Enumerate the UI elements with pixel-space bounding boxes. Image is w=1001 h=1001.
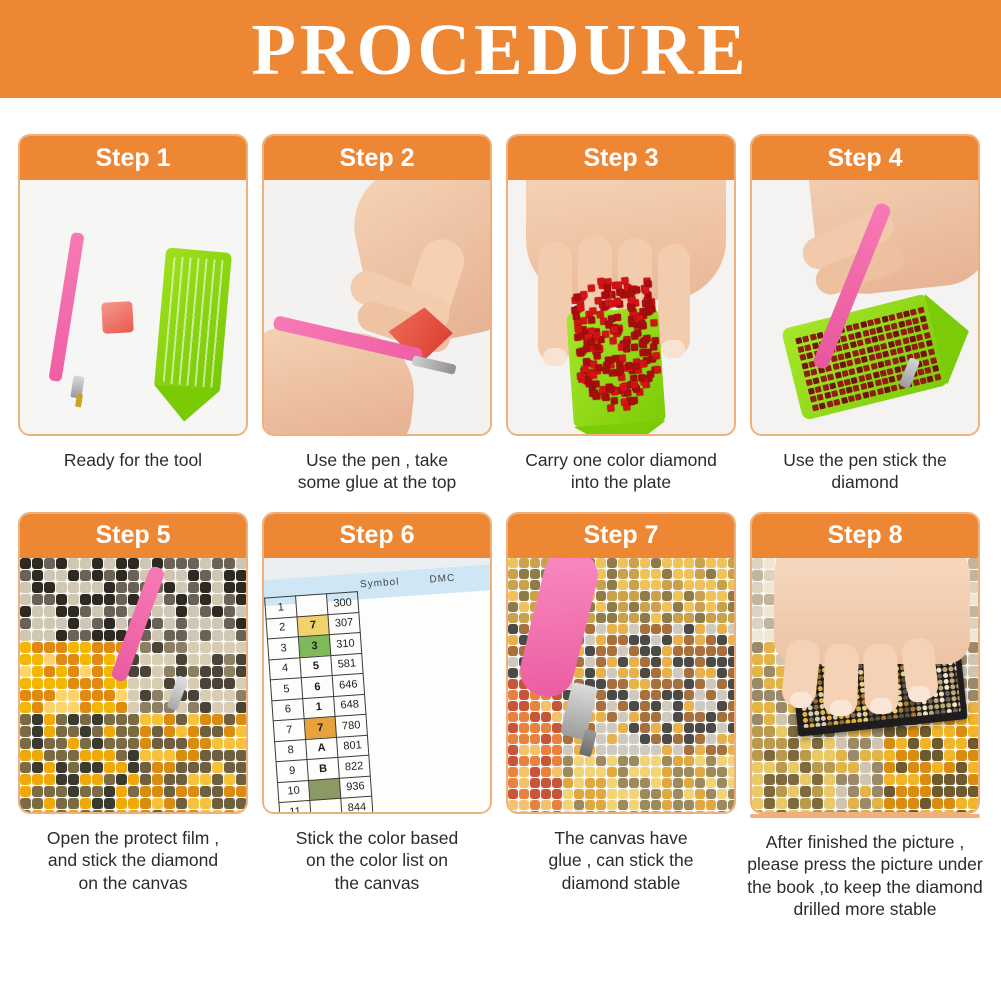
diamond-bead: [176, 630, 187, 641]
diamond-bead: [869, 328, 876, 335]
diamond-bead: [851, 376, 858, 383]
diamond-bead: [861, 356, 868, 363]
diamond-bead: [224, 702, 235, 713]
diamond-bead: [596, 657, 606, 667]
diamond-bead: [706, 624, 716, 634]
diamond-bead: [887, 367, 894, 374]
diamond-bead: [188, 786, 199, 797]
diamond-bead: [563, 756, 573, 766]
pen-nib-icon: [75, 394, 83, 408]
diamond-bead: [552, 800, 562, 810]
diamond-bead: [596, 613, 606, 623]
diamond-bead: [706, 690, 716, 700]
diamond-bead: [706, 679, 716, 689]
diamond-bead: [164, 558, 175, 569]
diamond-bead: [56, 558, 67, 569]
diamond-bead: [897, 347, 904, 354]
diamond-bead: [881, 316, 888, 323]
diamond-bead: [519, 712, 529, 722]
diamond-bead: [188, 570, 199, 581]
diamond-bead: [519, 580, 529, 590]
diamond-bead: [200, 630, 211, 641]
diamond-bead: [846, 387, 853, 394]
diamond-bead: [200, 774, 211, 785]
diamond-bead: [642, 287, 649, 294]
diamond-bead: [968, 786, 978, 797]
chart-row-no: 6: [272, 698, 304, 721]
diamond-bead: [508, 745, 518, 755]
diamond-bead: [164, 666, 175, 677]
diamond-bead: [651, 745, 661, 755]
diamond-bead: [530, 756, 540, 766]
diamond-bead: [728, 657, 734, 667]
diamond-bead: [651, 580, 661, 590]
diamond-bead: [44, 558, 55, 569]
diamond-bead: [140, 810, 151, 812]
diamond-bead: [662, 580, 672, 590]
diamond-bead: [923, 332, 930, 339]
procedure-poster: PROCEDURE Step 1 Ready for the: [0, 0, 1001, 1001]
diamond-bead: [628, 398, 635, 405]
diamond-bead: [597, 310, 604, 317]
diamond-bead: [20, 690, 31, 701]
diamond-bead: [152, 750, 163, 761]
diamond-bead: [788, 810, 799, 812]
diamond-bead: [607, 800, 617, 810]
diamond-bead: [799, 354, 806, 361]
diamond-bead: [530, 723, 540, 733]
tray-grooves: [163, 256, 226, 388]
diamond-bead: [717, 558, 727, 568]
diamond-bead: [695, 646, 705, 656]
diamond-bead: [717, 624, 727, 634]
diamond-bead: [812, 762, 823, 773]
diamond-bead: [20, 678, 31, 689]
diamond-bead: [819, 402, 826, 409]
diamond-bead: [585, 646, 595, 656]
diamond-bead: [706, 789, 716, 799]
diamond-bead: [856, 366, 863, 373]
diamond-bead: [629, 580, 639, 590]
diamond-bead: [662, 800, 672, 810]
diamond-bead: [896, 738, 907, 749]
diamond-bead: [862, 329, 869, 336]
fingernail: [908, 686, 930, 702]
diamond-bead: [530, 580, 540, 590]
diamond-bead: [236, 606, 246, 617]
diamond-bead: [706, 745, 716, 755]
finger-1: [538, 242, 572, 362]
diamond-bead: [844, 378, 851, 385]
diamond-bead: [541, 723, 551, 733]
diamond-bead: [508, 789, 518, 799]
chart-row-no: 10: [277, 780, 309, 803]
diamond-bead: [684, 712, 694, 722]
diamond-bead: [596, 712, 606, 722]
diamond-bead: [116, 558, 127, 569]
diamond-bead: [188, 594, 199, 605]
diamond-bead: [802, 335, 809, 342]
diamond-bead: [905, 319, 912, 326]
chart-row-no: 2: [266, 616, 298, 639]
diamond-bead: [884, 386, 891, 393]
diamond-bead: [651, 337, 658, 344]
diamond-bead: [866, 346, 873, 353]
diamond-bead: [585, 767, 595, 777]
diamond-bead: [640, 800, 650, 810]
diamond-bead: [776, 726, 787, 737]
diamond-bead: [684, 624, 694, 634]
diamond-bead: [934, 373, 941, 380]
diamond-bead: [200, 654, 211, 665]
diamond-bead: [862, 711, 867, 716]
diamond-bead: [508, 723, 518, 733]
diamond-bead: [212, 618, 223, 629]
diamond-bead: [68, 630, 79, 641]
diamond-bead: [212, 810, 223, 812]
step-6-caption: Stick the color based on the color list …: [259, 827, 495, 894]
diamond-bead: [128, 582, 139, 593]
diamond-bead: [20, 798, 31, 809]
diamond-bead: [164, 582, 175, 593]
diamond-bead: [706, 558, 716, 568]
diamond-bead: [152, 726, 163, 737]
diamond-bead: [640, 778, 650, 788]
step-6-title: Step 6: [264, 514, 490, 558]
diamond-bead: [56, 726, 67, 737]
diamond-bead: [618, 767, 628, 777]
diamond-bead: [684, 635, 694, 645]
diamond-bead: [596, 811, 606, 812]
diamond-bead: [904, 701, 909, 706]
diamond-bead: [629, 778, 639, 788]
diamond-bead: [164, 786, 175, 797]
diamond-bead: [852, 350, 859, 357]
diamond-bead: [662, 756, 672, 766]
diamond-bead: [224, 774, 235, 785]
diamond-bead: [902, 337, 909, 344]
diamond-bead: [849, 368, 856, 375]
diamond-bead: [176, 774, 187, 785]
diamond-bead: [919, 315, 926, 322]
diamond-bead: [596, 624, 606, 634]
diamond-bead: [845, 325, 852, 332]
diamond-bead: [56, 702, 67, 713]
diamond-bead: [673, 602, 683, 612]
diamond-bead: [832, 363, 839, 370]
diamond-bead: [212, 630, 223, 641]
diamond-bead: [673, 723, 683, 733]
diamond-bead: [717, 723, 727, 733]
diamond-bead: [932, 762, 943, 773]
diamond-bead: [200, 798, 211, 809]
diamond-bead: [607, 756, 617, 766]
diamond-bead: [116, 594, 127, 605]
diamond-bead: [92, 702, 103, 713]
diamond-bead: [116, 810, 127, 812]
diamond-bead: [200, 738, 211, 749]
diamond-bead: [140, 786, 151, 797]
diamond-bead: [224, 678, 235, 689]
diamond-bead: [673, 789, 683, 799]
chart-row-symbol: A: [306, 737, 338, 760]
diamond-bead: [939, 697, 944, 702]
diamond-bead: [944, 774, 955, 785]
diamond-bead: [152, 642, 163, 653]
diamond-bead: [164, 618, 175, 629]
diamond-bead: [877, 361, 884, 368]
chart-row-symbol: [296, 594, 328, 617]
diamond-bead: [44, 786, 55, 797]
diamond-bead: [104, 582, 115, 593]
diamond-bead: [836, 380, 843, 387]
diamond-bead: [879, 369, 886, 376]
diamond-bead: [541, 712, 551, 722]
diamond-bead: [650, 319, 657, 326]
diamond-bead: [588, 338, 595, 345]
diamond-bead: [519, 767, 529, 777]
diamond-bead: [910, 706, 915, 711]
diamond-bead: [629, 767, 639, 777]
diamond-bead: [653, 366, 660, 373]
diamond-bead: [44, 690, 55, 701]
diamond-bead: [812, 786, 823, 797]
diamond-bead: [574, 756, 584, 766]
diamond-bead: [583, 345, 590, 352]
diamond-bead: [813, 704, 818, 709]
diamond-bead: [629, 569, 639, 579]
diamond-bead: [56, 690, 67, 701]
step-8-image: [752, 558, 978, 812]
diamond-bead: [140, 642, 151, 653]
diamond-bead: [32, 798, 43, 809]
diamond-bead: [817, 394, 824, 401]
diamond-bead: [717, 811, 727, 812]
diamond-bead: [728, 591, 734, 601]
diamond-bead: [188, 618, 199, 629]
diamond-bead: [44, 774, 55, 785]
diamond-bead: [951, 690, 956, 695]
diamond-bead: [519, 690, 529, 700]
diamond-bead: [618, 635, 628, 645]
diamond-bead: [640, 701, 650, 711]
diamond-bead: [20, 558, 31, 569]
diamond-bead: [943, 678, 948, 683]
diamond-bead: [32, 738, 43, 749]
diamond-bead: [836, 798, 847, 809]
diamond-bead: [706, 668, 716, 678]
diamond-bead: [176, 594, 187, 605]
diamond-bead: [530, 558, 540, 568]
sunflower-mosaic: [20, 558, 246, 812]
diamond-bead: [541, 767, 551, 777]
diamond-bead: [104, 702, 115, 713]
diamond-bead: [764, 702, 775, 713]
diamond-bead: [968, 726, 978, 737]
diamond-bead: [152, 774, 163, 785]
diamond-bead: [870, 363, 877, 370]
diamond-bead: [530, 767, 540, 777]
diamond-bead: [884, 810, 895, 812]
diamond-bead: [603, 284, 610, 291]
diamond-bead: [874, 317, 881, 324]
diamond-bead: [848, 810, 859, 812]
diamond-bead: [92, 558, 103, 569]
diamond-bead: [594, 352, 601, 359]
diamond-bead: [673, 767, 683, 777]
diamond-bead: [508, 756, 518, 766]
diamond-bead: [662, 591, 672, 601]
diamond-bead: [596, 778, 606, 788]
diamond-bead: [212, 690, 223, 701]
diamond-bead: [886, 332, 893, 339]
diamond-bead: [68, 666, 79, 677]
diamond-bead: [788, 786, 799, 797]
diamond-bead: [176, 750, 187, 761]
diamond-bead: [530, 811, 540, 812]
diamond-bead: [628, 287, 635, 294]
step-card-1: Step 1 Ready for the tool: [18, 134, 248, 494]
diamond-bead: [673, 800, 683, 810]
diamond-bead: [530, 569, 540, 579]
diamond-bead: [508, 811, 518, 812]
diamond-bead: [839, 362, 846, 369]
chart-row-symbol: [308, 778, 340, 801]
diamond-bead: [80, 570, 91, 581]
diamond-bead: [651, 734, 661, 744]
diamond-bead: [20, 570, 31, 581]
diamond-bead: [200, 594, 211, 605]
diamond-bead: [803, 717, 808, 722]
step-5-image: [20, 558, 246, 812]
step-5-title: Step 5: [20, 514, 246, 558]
diamond-bead: [92, 570, 103, 581]
diamond-bead: [188, 726, 199, 737]
diamond-bead: [80, 606, 91, 617]
diamond-bead: [596, 679, 606, 689]
diamond-bead: [640, 657, 650, 667]
diamond-bead: [728, 789, 734, 799]
diamond-bead: [764, 714, 775, 725]
diamond-bead: [848, 738, 859, 749]
diamond-bead: [176, 582, 187, 593]
diamond-bead: [640, 811, 650, 812]
diamond-bead: [607, 767, 617, 777]
diamond-bead: [552, 712, 562, 722]
diamond-bead: [618, 613, 628, 623]
diamond-bead: [596, 745, 606, 755]
diamond-bead: [116, 690, 127, 701]
diamond-bead: [968, 654, 978, 665]
diamond-bead: [152, 690, 163, 701]
step-4-caption: Use the pen stick the diamond: [747, 449, 983, 494]
diamond-bead: [684, 602, 694, 612]
diamond-bead: [618, 690, 628, 700]
diamond-bead: [920, 377, 927, 384]
diamond-bead: [662, 558, 672, 568]
diamond-bead: [80, 594, 91, 605]
diamond-bead: [776, 702, 787, 713]
diamond-bead: [56, 642, 67, 653]
diamond-bead: [629, 558, 639, 568]
diamond-bead: [867, 319, 874, 326]
diamond-bead: [621, 277, 628, 284]
diamond-bead: [188, 714, 199, 725]
diamond-bead: [596, 591, 606, 601]
diamond-bead: [552, 778, 562, 788]
diamond-bead: [618, 701, 628, 711]
fingernail: [543, 348, 567, 366]
diamond-bead: [651, 679, 661, 689]
diamond-bead: [212, 642, 223, 653]
diamond-bead: [717, 745, 727, 755]
diamond-bead: [629, 602, 639, 612]
diamond-bead: [932, 750, 943, 761]
diamond-bead: [920, 750, 931, 761]
diamond-bead: [638, 320, 645, 327]
diamond-bead: [917, 307, 924, 314]
diamond-bead: [224, 618, 235, 629]
diamond-bead: [20, 762, 31, 773]
diamond-bead: [911, 344, 918, 351]
diamond-bead: [530, 800, 540, 810]
diamond-bead: [858, 375, 865, 382]
diamond-bead: [900, 329, 907, 336]
diamond-bead: [128, 810, 139, 812]
chart-row-symbol: 7: [297, 614, 329, 637]
diamond-bead: [563, 767, 573, 777]
diamond-bead: [618, 580, 628, 590]
diamond-bead: [752, 750, 763, 761]
steps-grid: Step 1 Ready for the tool Step 2: [0, 98, 1001, 920]
diamond-bead: [44, 570, 55, 581]
diamond-bead: [80, 702, 91, 713]
diamond-bead: [932, 774, 943, 785]
diamond-bead: [695, 778, 705, 788]
diamond-bead: [752, 582, 763, 593]
diamond-bead: [629, 657, 639, 667]
diamond-bead: [629, 800, 639, 810]
diamond-bead: [176, 606, 187, 617]
diamond-bead: [717, 580, 727, 590]
diamond-bead: [880, 342, 887, 349]
diamond-bead: [116, 762, 127, 773]
diamond-bead: [917, 369, 924, 376]
diamond-bead: [752, 666, 763, 677]
diamond-bead: [788, 762, 799, 773]
diamond-bead: [188, 666, 199, 677]
diamond-bead: [44, 606, 55, 617]
diamond-bead: [728, 646, 734, 656]
diamond-bead: [673, 635, 683, 645]
diamond-bead: [776, 714, 787, 725]
diamond-bead: [508, 624, 518, 634]
chart-row-no: 8: [275, 739, 307, 762]
diamond-bead: [44, 582, 55, 593]
step-7-card: Step 7: [506, 512, 736, 814]
diamond-bead: [752, 678, 763, 689]
diamond-bead: [188, 558, 199, 569]
diamond-bead: [684, 646, 694, 656]
diamond-bead: [809, 717, 814, 722]
diamond-bead: [236, 582, 246, 593]
step-2-image: [264, 180, 490, 434]
diamond-bead: [891, 322, 898, 329]
diamond-bead: [236, 666, 246, 677]
diamond-bead: [933, 698, 938, 703]
diamond-bead: [104, 630, 115, 641]
diamond-bead: [20, 582, 31, 593]
